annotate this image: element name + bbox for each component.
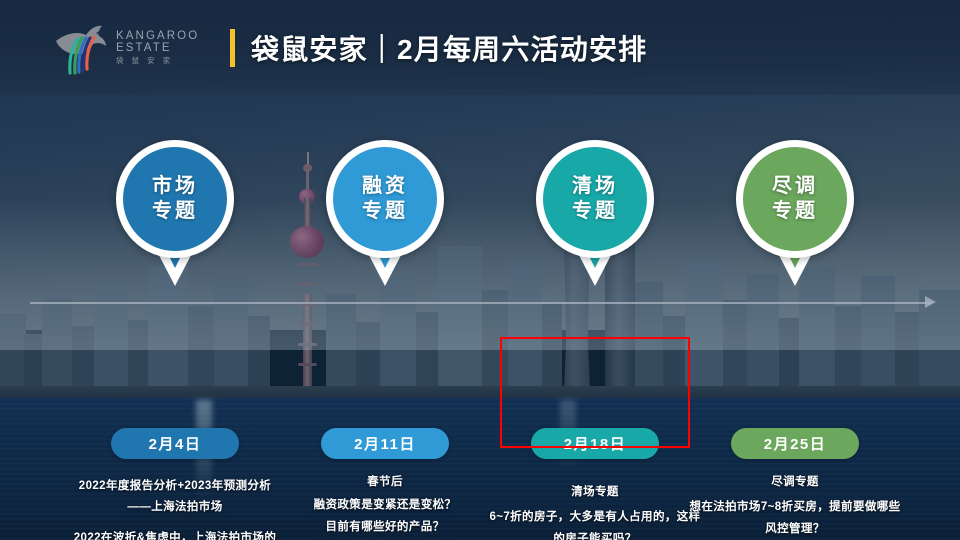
- brand-line-1: KANGAROO: [116, 30, 199, 42]
- pin-head-2[interactable]: 融资 专题: [326, 140, 444, 258]
- date-pill-3[interactable]: 2月18日: [531, 428, 659, 459]
- description-paragraph: 目前有哪些好的产品？: [278, 517, 492, 538]
- timeline-column-3[interactable]: 清场 专题 2月18日 清场专题 6~7折的房子，大多是有人占用的，这样的房子能…: [480, 140, 710, 286]
- column-description-2: 春节后 融资政策是变紧还是变松？ 目前有哪些好的产品？ 是短期的？中长期的好产品…: [270, 472, 500, 540]
- date-pill-1[interactable]: 2月4日: [111, 428, 239, 459]
- column-description-1: 2022年度报告分析+2023年预测分析——上海法拍市场 2022在波折&焦虑中…: [60, 476, 290, 540]
- date-pill-4[interactable]: 2月25日: [731, 428, 859, 459]
- timeline-column-1[interactable]: 市场 专题 2月4日 2022年度报告分析+2023年预测分析——上海法拍市场 …: [60, 140, 290, 286]
- description-paragraph: 尽调专题: [688, 472, 902, 493]
- timeline-column-2[interactable]: 融资 专题 2月11日 春节后 融资政策是变紧还是变松？ 目前有哪些好的产品？ …: [270, 140, 500, 286]
- pin-label-line-1: 融资: [362, 174, 408, 199]
- description-paragraph: 春节后: [278, 472, 492, 493]
- pin-marker-2[interactable]: 融资 专题: [326, 140, 444, 286]
- pin-marker-1[interactable]: 市场 专题: [116, 140, 234, 286]
- brand-line-cn: 袋 鼠 安 家: [116, 57, 199, 65]
- brand-line-2: ESTATE: [116, 42, 199, 54]
- kangaroo-logo-icon: [52, 19, 114, 77]
- pin-label-line-2: 专题: [362, 199, 408, 224]
- pin-label-line-2: 专题: [152, 199, 198, 224]
- timeline-column-4[interactable]: 尽调 专题 2月25日 尽调专题 想在法拍市场7~8折买房，提前要做哪些风控管理…: [680, 140, 910, 286]
- timeline-axis: [30, 302, 932, 304]
- description-paragraph: 2022在波折&焦虑中，上海法拍市场的走势如何？2023年市场将会如何？: [68, 528, 282, 540]
- page-title: 袋鼠安家｜2月每周六活动安排: [251, 28, 647, 68]
- description-paragraph: 清场专题: [488, 482, 702, 503]
- column-description-4: 尽调专题 想在法拍市场7~8折买房，提前要做哪些风控管理？ 如何做？: [680, 472, 910, 540]
- description-paragraph: 6~7折的房子，大多是有人占用的，这样的房子能买吗？: [488, 507, 702, 540]
- timeline-arrowhead-icon: [925, 296, 936, 308]
- title-accent-bar: [230, 29, 235, 67]
- pin-label-line-2: 专题: [572, 199, 618, 224]
- pin-head-3[interactable]: 清场 专题: [536, 140, 654, 258]
- pin-label-line-1: 清场: [572, 174, 618, 199]
- brand-wordmark: KANGAROO ESTATE 袋 鼠 安 家: [116, 30, 199, 65]
- pin-label-line-1: 尽调: [772, 174, 818, 199]
- pin-head-4[interactable]: 尽调 专题: [736, 140, 854, 258]
- pin-head-1[interactable]: 市场 专题: [116, 140, 234, 258]
- pin-label-line-2: 专题: [772, 199, 818, 224]
- description-paragraph: 2022年度报告分析+2023年预测分析——上海法拍市场: [68, 476, 282, 519]
- description-paragraph: 融资政策是变紧还是变松？: [278, 495, 492, 516]
- date-pill-2[interactable]: 2月11日: [321, 428, 449, 459]
- brand-logo: KANGAROO ESTATE 袋 鼠 安 家: [52, 17, 182, 79]
- page-header: KANGAROO ESTATE 袋 鼠 安 家 袋鼠安家｜2月每周六活动安排: [0, 0, 960, 95]
- description-paragraph: 想在法拍市场7~8折买房，提前要做哪些风控管理？: [688, 497, 902, 540]
- pin-label-line-1: 市场: [152, 174, 198, 199]
- pin-marker-3[interactable]: 清场 专题: [536, 140, 654, 286]
- column-description-3: 清场专题 6~7折的房子，大多是有人占用的，这样的房子能买吗？ 怎么清场收房？: [480, 482, 710, 540]
- pin-marker-4[interactable]: 尽调 专题: [736, 140, 854, 286]
